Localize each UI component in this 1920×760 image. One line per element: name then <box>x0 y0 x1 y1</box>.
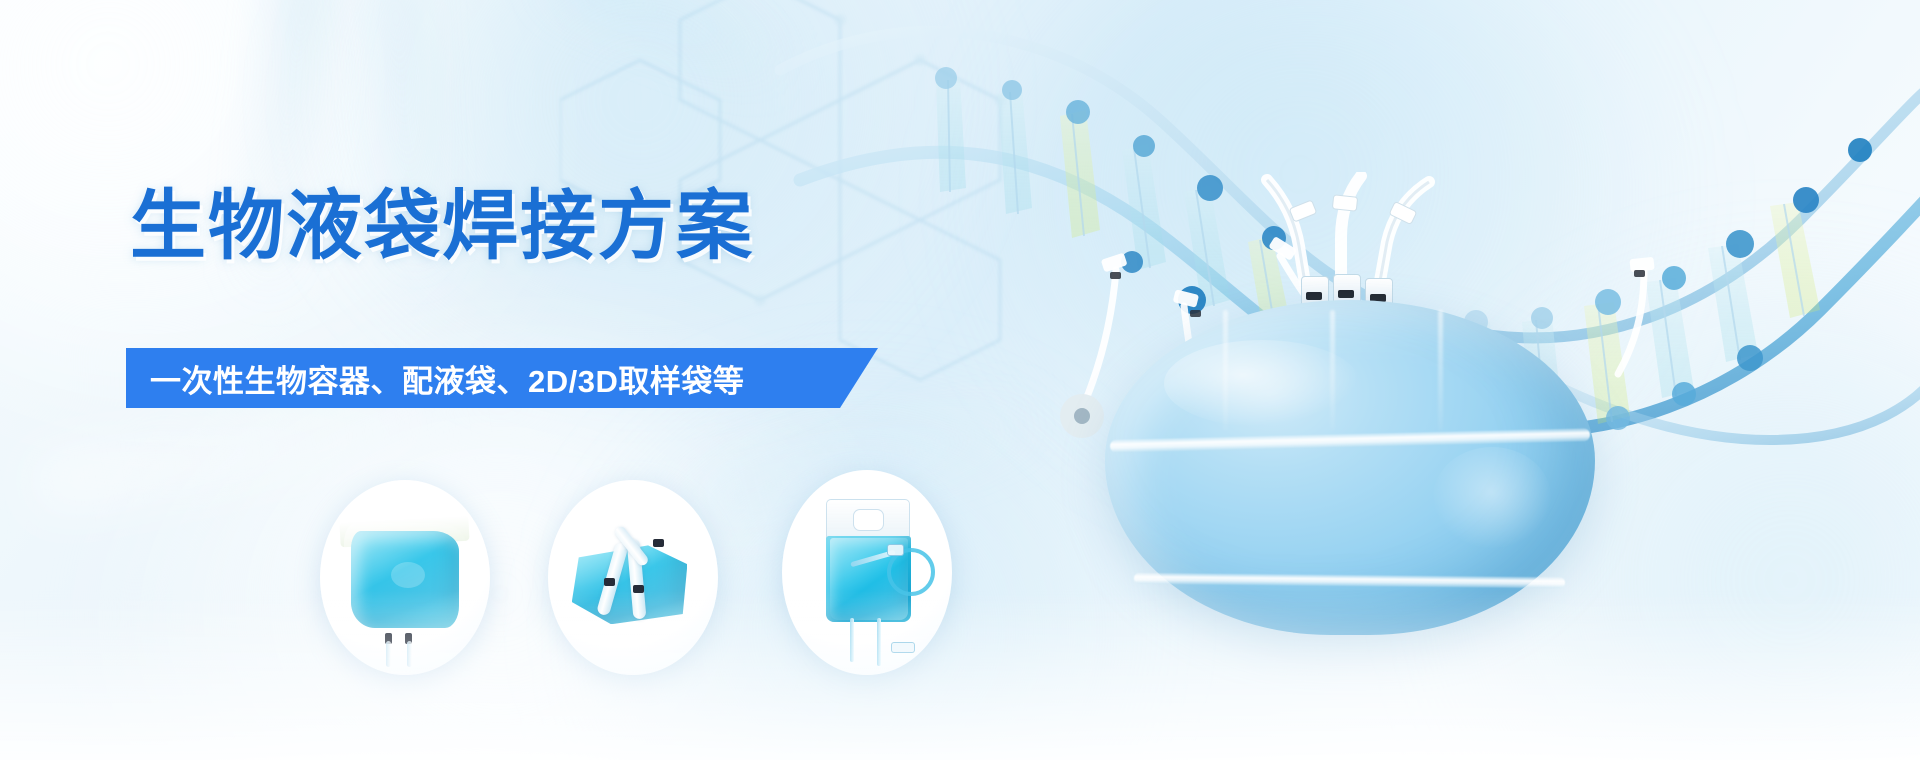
cube-bag-clamp-3 <box>653 539 664 547</box>
bag-shell <box>1105 300 1595 635</box>
product-circle-2d-pillow-bag <box>320 480 490 675</box>
bag-port-clamp-left <box>1306 292 1322 300</box>
bag-port-right <box>1365 278 1393 310</box>
bag-port-left <box>1301 276 1329 308</box>
background-blob-3 <box>120 360 880 760</box>
bag-highlight-side <box>1433 447 1551 548</box>
bottom-vignette <box>0 590 1920 760</box>
bag-emboss-logo <box>391 562 425 588</box>
page-title: 生物液袋焊接方案 <box>130 186 754 268</box>
promo-banner: 生物液袋焊接方案 一次性生物容器、配液袋、2D/3D取样袋等 <box>0 0 1920 760</box>
bag-manifold <box>1215 172 1495 322</box>
bag-highlight-top <box>1164 340 1360 427</box>
bag-tube-b <box>407 641 412 667</box>
bag-fold-1 <box>1223 310 1228 431</box>
bag-fold-3 <box>1438 310 1443 431</box>
bioprocess-bag-graphic <box>1105 300 1595 635</box>
bag-seam-bottom <box>1134 572 1565 588</box>
subtitle-text: 一次性生物容器、配液袋、2D/3D取样袋等 <box>150 356 744 401</box>
product-circle-3d-cube-bag <box>548 480 718 675</box>
cube-bag-clamp-2 <box>633 585 644 593</box>
sampling-bag-tube-down-2 <box>877 618 881 666</box>
sampling-bag-fitting-bottom <box>891 642 915 653</box>
bag-port-center <box>1333 274 1361 306</box>
bag-port-clamp-center <box>1338 290 1354 298</box>
sampling-bag-handle-hole <box>853 509 884 532</box>
sampling-bag-fitting-top <box>887 544 904 556</box>
cube-bag-clamp-1 <box>604 578 615 586</box>
background-blob-5 <box>1480 300 1920 760</box>
bag-seam-top <box>1110 428 1590 453</box>
sampling-bag-tube-down-1 <box>850 618 854 662</box>
bag-fold-2 <box>1330 310 1335 431</box>
subtitle-ribbon: 一次性生物容器、配液袋、2D/3D取样袋等 <box>126 348 878 408</box>
product-circle-sampling-bag <box>782 470 952 675</box>
bag-port-clamp-right <box>1370 294 1386 302</box>
bag-tube-a <box>386 641 391 667</box>
